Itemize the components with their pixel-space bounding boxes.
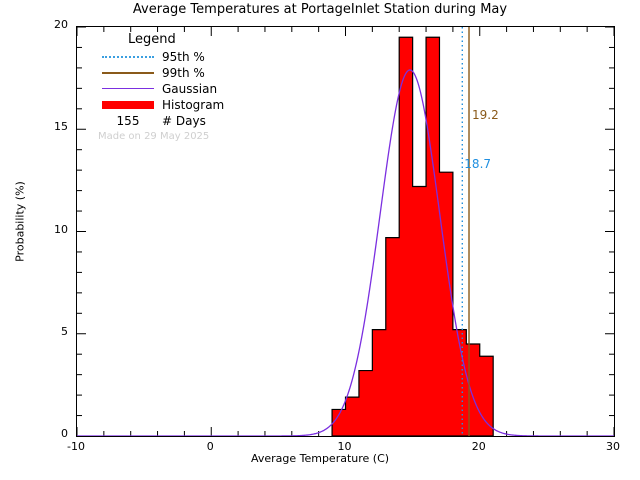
- y-tick-label: 20: [36, 18, 68, 31]
- legend: Legend 95th % 99th % Gaussian Histogram: [100, 32, 300, 129]
- legend-days-count: 155: [100, 114, 156, 128]
- annotation-95th-value: 18.7: [464, 157, 491, 171]
- histogram-chart: Average Temperatures at PortageInlet Sta…: [0, 0, 640, 480]
- legend-label-99th: 99th %: [162, 66, 205, 80]
- chart-title: Average Temperatures at PortageInlet Sta…: [0, 2, 640, 17]
- y-tick-label: 10: [36, 223, 68, 236]
- x-axis-title: Average Temperature (C): [0, 452, 640, 465]
- legend-item-histogram: Histogram: [100, 97, 300, 113]
- legend-item-days: 155 # Days: [100, 113, 300, 129]
- legend-label-histogram: Histogram: [162, 98, 224, 112]
- legend-item-99th: 99th %: [100, 65, 300, 81]
- legend-label-95th: 95th %: [162, 50, 205, 64]
- y-axis-title: Probability (%): [14, 142, 27, 302]
- y-tick-label: 15: [36, 120, 68, 133]
- legend-title: Legend: [128, 32, 300, 47]
- legend-swatch-gaussian-icon: [100, 82, 156, 96]
- legend-label-gaussian: Gaussian: [162, 82, 217, 96]
- legend-swatch-99th-icon: [100, 66, 156, 80]
- legend-swatch-95th-icon: [100, 50, 156, 64]
- legend-item-95th: 95th %: [100, 49, 300, 65]
- y-tick-label: 5: [36, 325, 68, 338]
- legend-item-gaussian: Gaussian: [100, 81, 300, 97]
- legend-swatch-histogram-icon: [100, 98, 156, 112]
- legend-days-label: # Days: [162, 114, 206, 128]
- watermark: Made on 29 May 2025: [98, 131, 209, 142]
- y-tick-label: 0: [36, 427, 68, 440]
- annotation-99th-value: 19.2: [472, 108, 499, 122]
